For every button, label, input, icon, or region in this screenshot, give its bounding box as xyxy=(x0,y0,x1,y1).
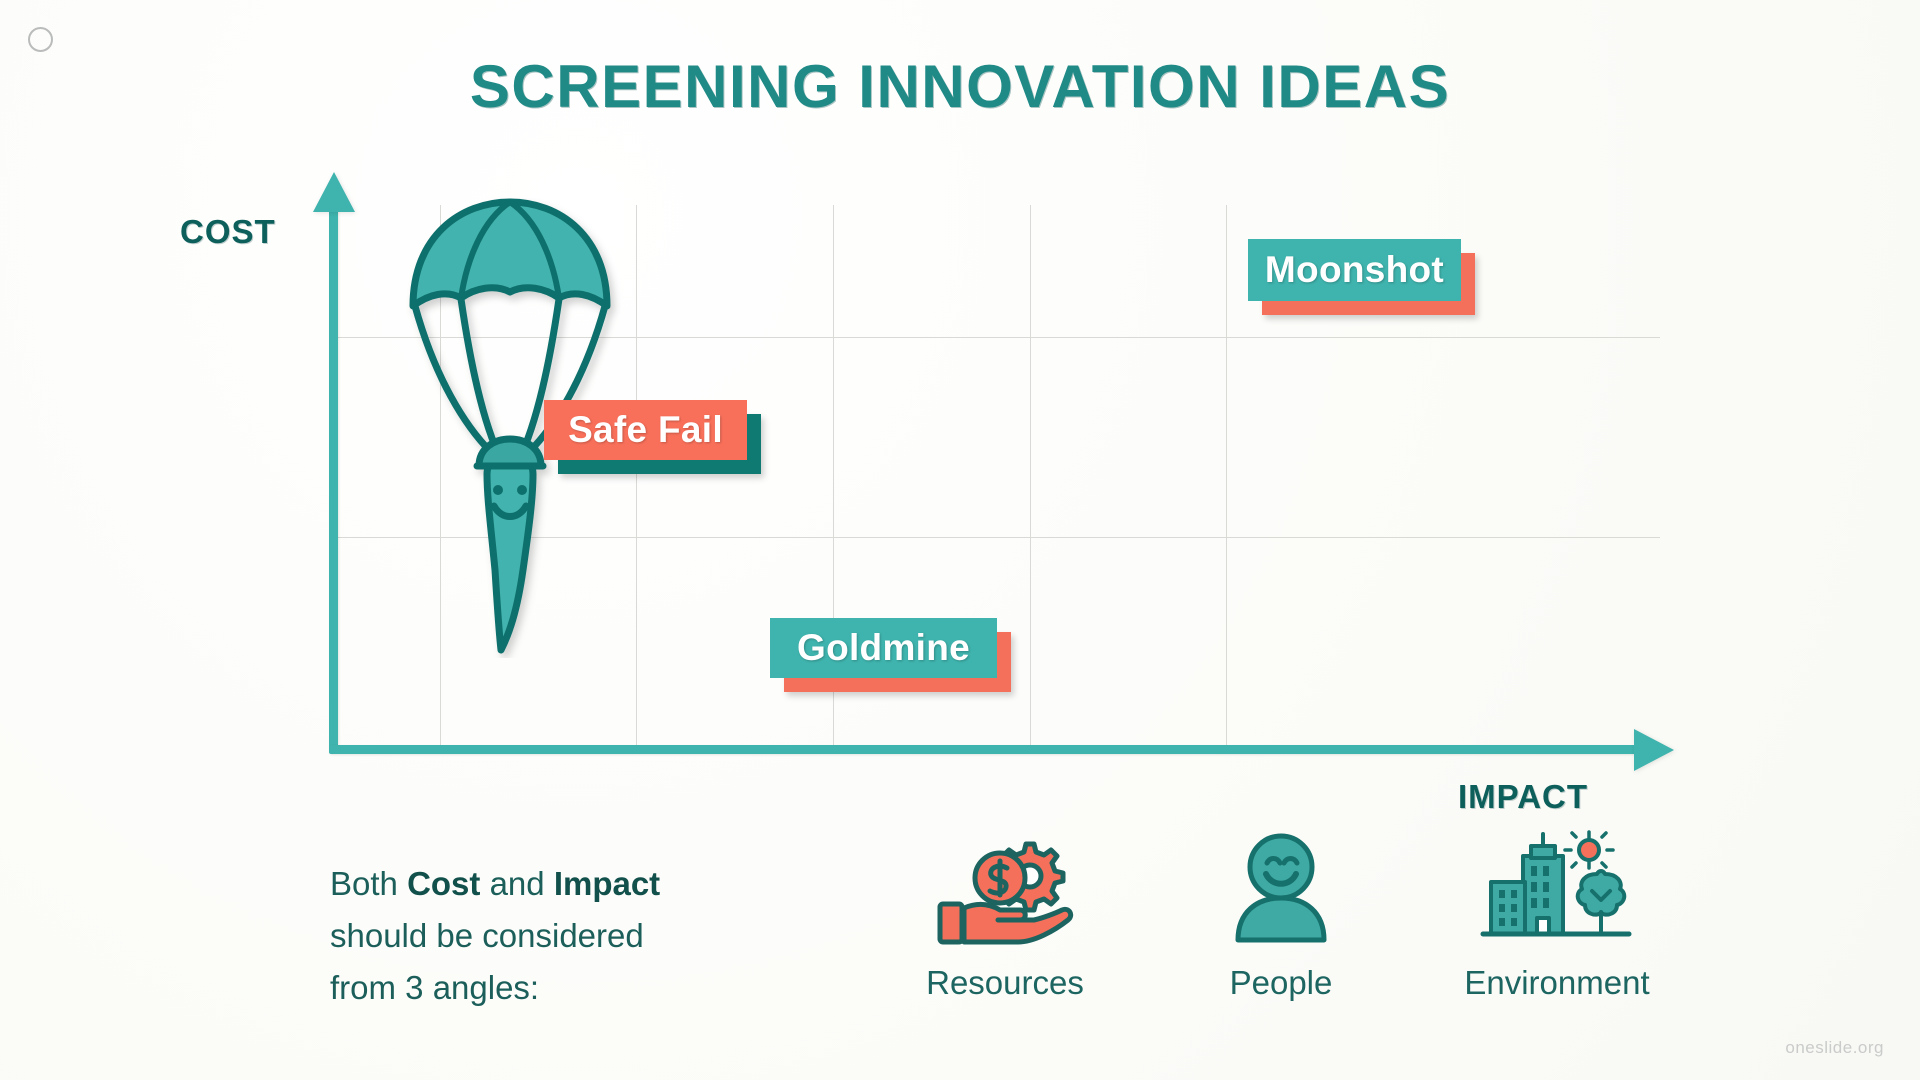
note-line3: from 3 angles: xyxy=(330,969,539,1006)
marker-label: Moonshot xyxy=(1248,239,1461,301)
footer-watermark: oneslide.org xyxy=(1785,1038,1884,1058)
corner-circle-icon xyxy=(28,27,53,52)
x-axis-label: IMPACT xyxy=(1458,778,1588,816)
hand-holding-coin-gear-icon xyxy=(930,830,1080,950)
chart-marker-goldmine[interactable]: Goldmine xyxy=(770,618,997,678)
note-line1-prefix: Both xyxy=(330,865,407,902)
page-title: SCREENING INNOVATION IDEAS xyxy=(0,52,1920,121)
y-axis xyxy=(329,205,338,750)
note-line2: should be considered xyxy=(330,917,644,954)
smiling-person-icon xyxy=(1226,830,1336,950)
angle-caption: Environment xyxy=(1464,964,1649,1002)
note-line1-middle: and xyxy=(480,865,553,902)
chart-marker-moonshot[interactable]: Moonshot xyxy=(1248,239,1461,301)
gridline-vertical xyxy=(1030,205,1031,750)
marker-label: Goldmine xyxy=(770,618,997,678)
angle-caption: People xyxy=(1230,964,1333,1002)
note-bold-impact: Impact xyxy=(554,865,660,902)
gridline-vertical xyxy=(636,205,637,750)
angle-item-resources[interactable]: Resources xyxy=(890,830,1120,1002)
x-axis xyxy=(329,745,1639,754)
angle-item-environment[interactable]: Environment xyxy=(1442,830,1672,1002)
angles-row: Resources People xyxy=(890,830,1672,1002)
marker-label: Safe Fail xyxy=(544,400,747,460)
chart-marker-safe-fail[interactable]: Safe Fail xyxy=(544,400,747,460)
y-axis-arrowhead-icon xyxy=(313,172,355,212)
angle-caption: Resources xyxy=(926,964,1084,1002)
note-bold-cost: Cost xyxy=(407,865,480,902)
buildings-tree-sun-icon xyxy=(1477,830,1637,950)
y-axis-label: COST xyxy=(180,213,276,251)
angle-item-people[interactable]: People xyxy=(1166,830,1396,1002)
x-axis-arrowhead-icon xyxy=(1634,729,1674,771)
gridline-vertical xyxy=(1226,205,1227,750)
note-text: Both Cost and Impact should be considere… xyxy=(330,858,810,1014)
slide-canvas: SCREENING INNOVATION IDEAS COST IMPACT xyxy=(0,0,1920,1080)
